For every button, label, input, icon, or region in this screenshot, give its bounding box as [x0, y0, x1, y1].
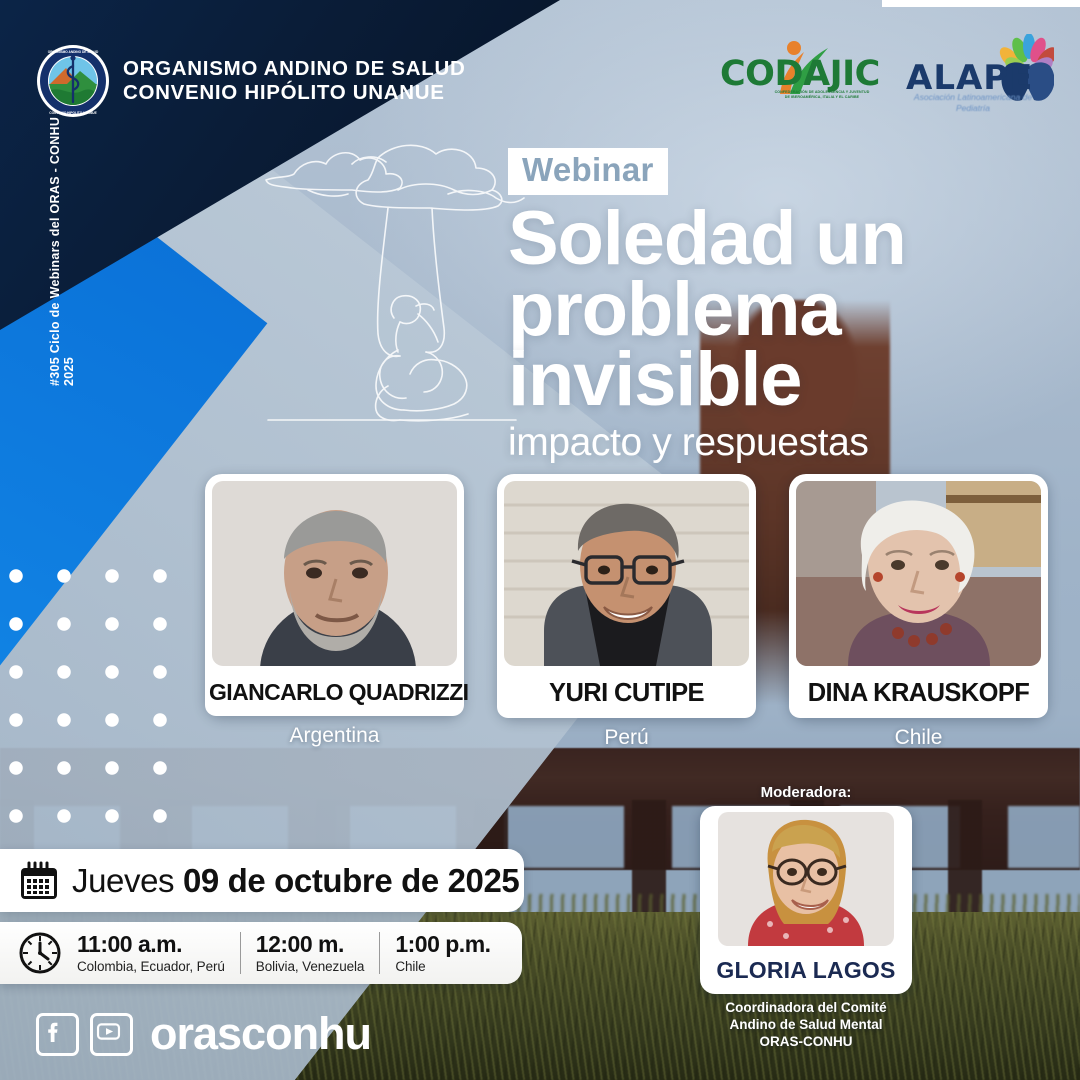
- speaker-card-3: DINA KRAUSKOPF Chile: [789, 474, 1048, 750]
- moderator-name: GLORIA LAGOS: [700, 950, 912, 994]
- org-line-2: CONVENIO HIPÓLITO UNANUE: [123, 81, 465, 105]
- title-block: Webinar Soledad un problema invisible im…: [508, 148, 1068, 464]
- timezone-1: 11:00 a.m. Colombia, Ecuador, Perú: [62, 932, 240, 973]
- moderator-avatar: [718, 812, 894, 946]
- timezone-2-time: 12:00 m.: [256, 932, 365, 956]
- speaker-1-country: Argentina: [205, 724, 464, 748]
- speaker-1-name: GIANCARLO QUADRIZZI: [205, 672, 464, 716]
- alape-subtitle: Asociación Latinoamericana de Pediatría: [906, 92, 1040, 114]
- speaker-3-country: Chile: [789, 726, 1048, 750]
- org-line-1: ORGANISMO ANDINO DE SALUD: [123, 57, 465, 81]
- social-footer: orasconhu: [36, 1008, 371, 1060]
- timezone-2: 12:00 m. Bolivia, Venezuela: [240, 932, 380, 973]
- title-line-2: problema: [508, 275, 1068, 346]
- date-bar: Jueves 09 de octubre de 2025: [0, 849, 524, 912]
- speaker-card-2-frame: YURI CUTIPE: [497, 474, 756, 718]
- speaker-3-name: DINA KRAUSKOPF: [789, 672, 1048, 718]
- moderator-role-line-3: ORAS-CONHU: [700, 1034, 912, 1051]
- speaker-2-avatar: [504, 481, 749, 666]
- calendar-icon: [18, 860, 60, 902]
- codajic-subtitle: CONFEDERACIÓN DE ADOLESCENCIA Y JUVENTUD…: [772, 90, 872, 100]
- moderator-card-frame: GLORIA LAGOS: [700, 806, 912, 994]
- date-value: 09 de octubre de 2025: [183, 862, 519, 899]
- webinar-badge: Webinar: [508, 148, 668, 195]
- timezone-2-countries: Bolivia, Venezuela: [256, 959, 365, 974]
- speaker-1-avatar: [212, 481, 457, 666]
- svg-text:ORGANISMO ANDINO DE SALUD: ORGANISMO ANDINO DE SALUD: [48, 50, 99, 54]
- partner-logos: CODAJIC CONFEDERACIÓN DE ADOLESCENCIA Y …: [720, 34, 1054, 116]
- dot-grid-pattern: [0, 548, 180, 840]
- speaker-card-3-frame: DINA KRAUSKOPF: [789, 474, 1048, 718]
- facebook-icon[interactable]: [36, 1013, 79, 1056]
- page-title: Soledad un problema invisible: [508, 204, 1068, 416]
- codajic-wordmark: CODAJIC: [720, 54, 880, 94]
- moderator-label: Moderadora:: [700, 784, 912, 801]
- title-line-1: Soledad un: [508, 204, 1068, 275]
- date-weekday: Jueves: [72, 862, 174, 899]
- speaker-card-1-frame: GIANCARLO QUADRIZZI: [205, 474, 464, 716]
- timezone-1-time: 11:00 a.m.: [77, 932, 225, 956]
- speaker-card-1: GIANCARLO QUADRIZZI Argentina: [205, 474, 464, 750]
- moderator-block: Moderadora:: [700, 784, 912, 1051]
- timezone-3-countries: Chile: [395, 959, 490, 974]
- timezone-1-countries: Colombia, Ecuador, Perú: [77, 959, 225, 974]
- speaker-2-country: Perú: [497, 726, 756, 750]
- date-text: Jueves 09 de octubre de 2025: [72, 862, 519, 900]
- oras-conhu-header: ORGANISMO ANDINO DE SALUD CONVENIO HIPOL…: [36, 44, 465, 118]
- social-handle[interactable]: orasconhu: [150, 1008, 371, 1060]
- youtube-icon[interactable]: [90, 1013, 133, 1056]
- moderator-role-line-1: Coordinadora del Comité: [700, 1000, 912, 1017]
- time-bar: 11:00 a.m. Colombia, Ecuador, Perú 12:00…: [0, 922, 522, 984]
- vertical-series-caption: #305 Ciclo de Webinars del ORAS - CONHU …: [48, 106, 76, 386]
- lonely-person-rain-line-art: [248, 128, 538, 428]
- speakers-row: GIANCARLO QUADRIZZI Argentina: [205, 474, 1050, 750]
- speaker-card-2: YURI CUTIPE Perú: [497, 474, 756, 750]
- timezone-3: 1:00 p.m. Chile: [379, 932, 505, 973]
- oras-conhu-wordmark: ORGANISMO ANDINO DE SALUD CONVENIO HIPÓL…: [123, 57, 465, 105]
- title-subtitle: impacto y respuestas: [508, 423, 1068, 464]
- webinar-poster: ORGANISMO ANDINO DE SALUD CONVENIO HIPOL…: [0, 0, 1080, 1080]
- title-line-3: invisible: [508, 345, 1068, 416]
- timezone-3-time: 1:00 p.m.: [395, 932, 490, 956]
- top-white-strip: [882, 0, 1080, 7]
- speaker-2-name: YURI CUTIPE: [497, 672, 756, 718]
- moderator-role: Coordinadora del Comité Andino de Salud …: [700, 1000, 912, 1051]
- clock-icon: [18, 931, 62, 975]
- moderator-role-line-2: Andino de Salud Mental: [700, 1017, 912, 1034]
- speaker-3-avatar: [796, 481, 1041, 666]
- codajic-logo: CODAJIC CONFEDERACIÓN DE ADOLESCENCIA Y …: [720, 34, 872, 112]
- alape-logo: ALAPE Asociación Latinoamericana de Pedi…: [906, 34, 1054, 116]
